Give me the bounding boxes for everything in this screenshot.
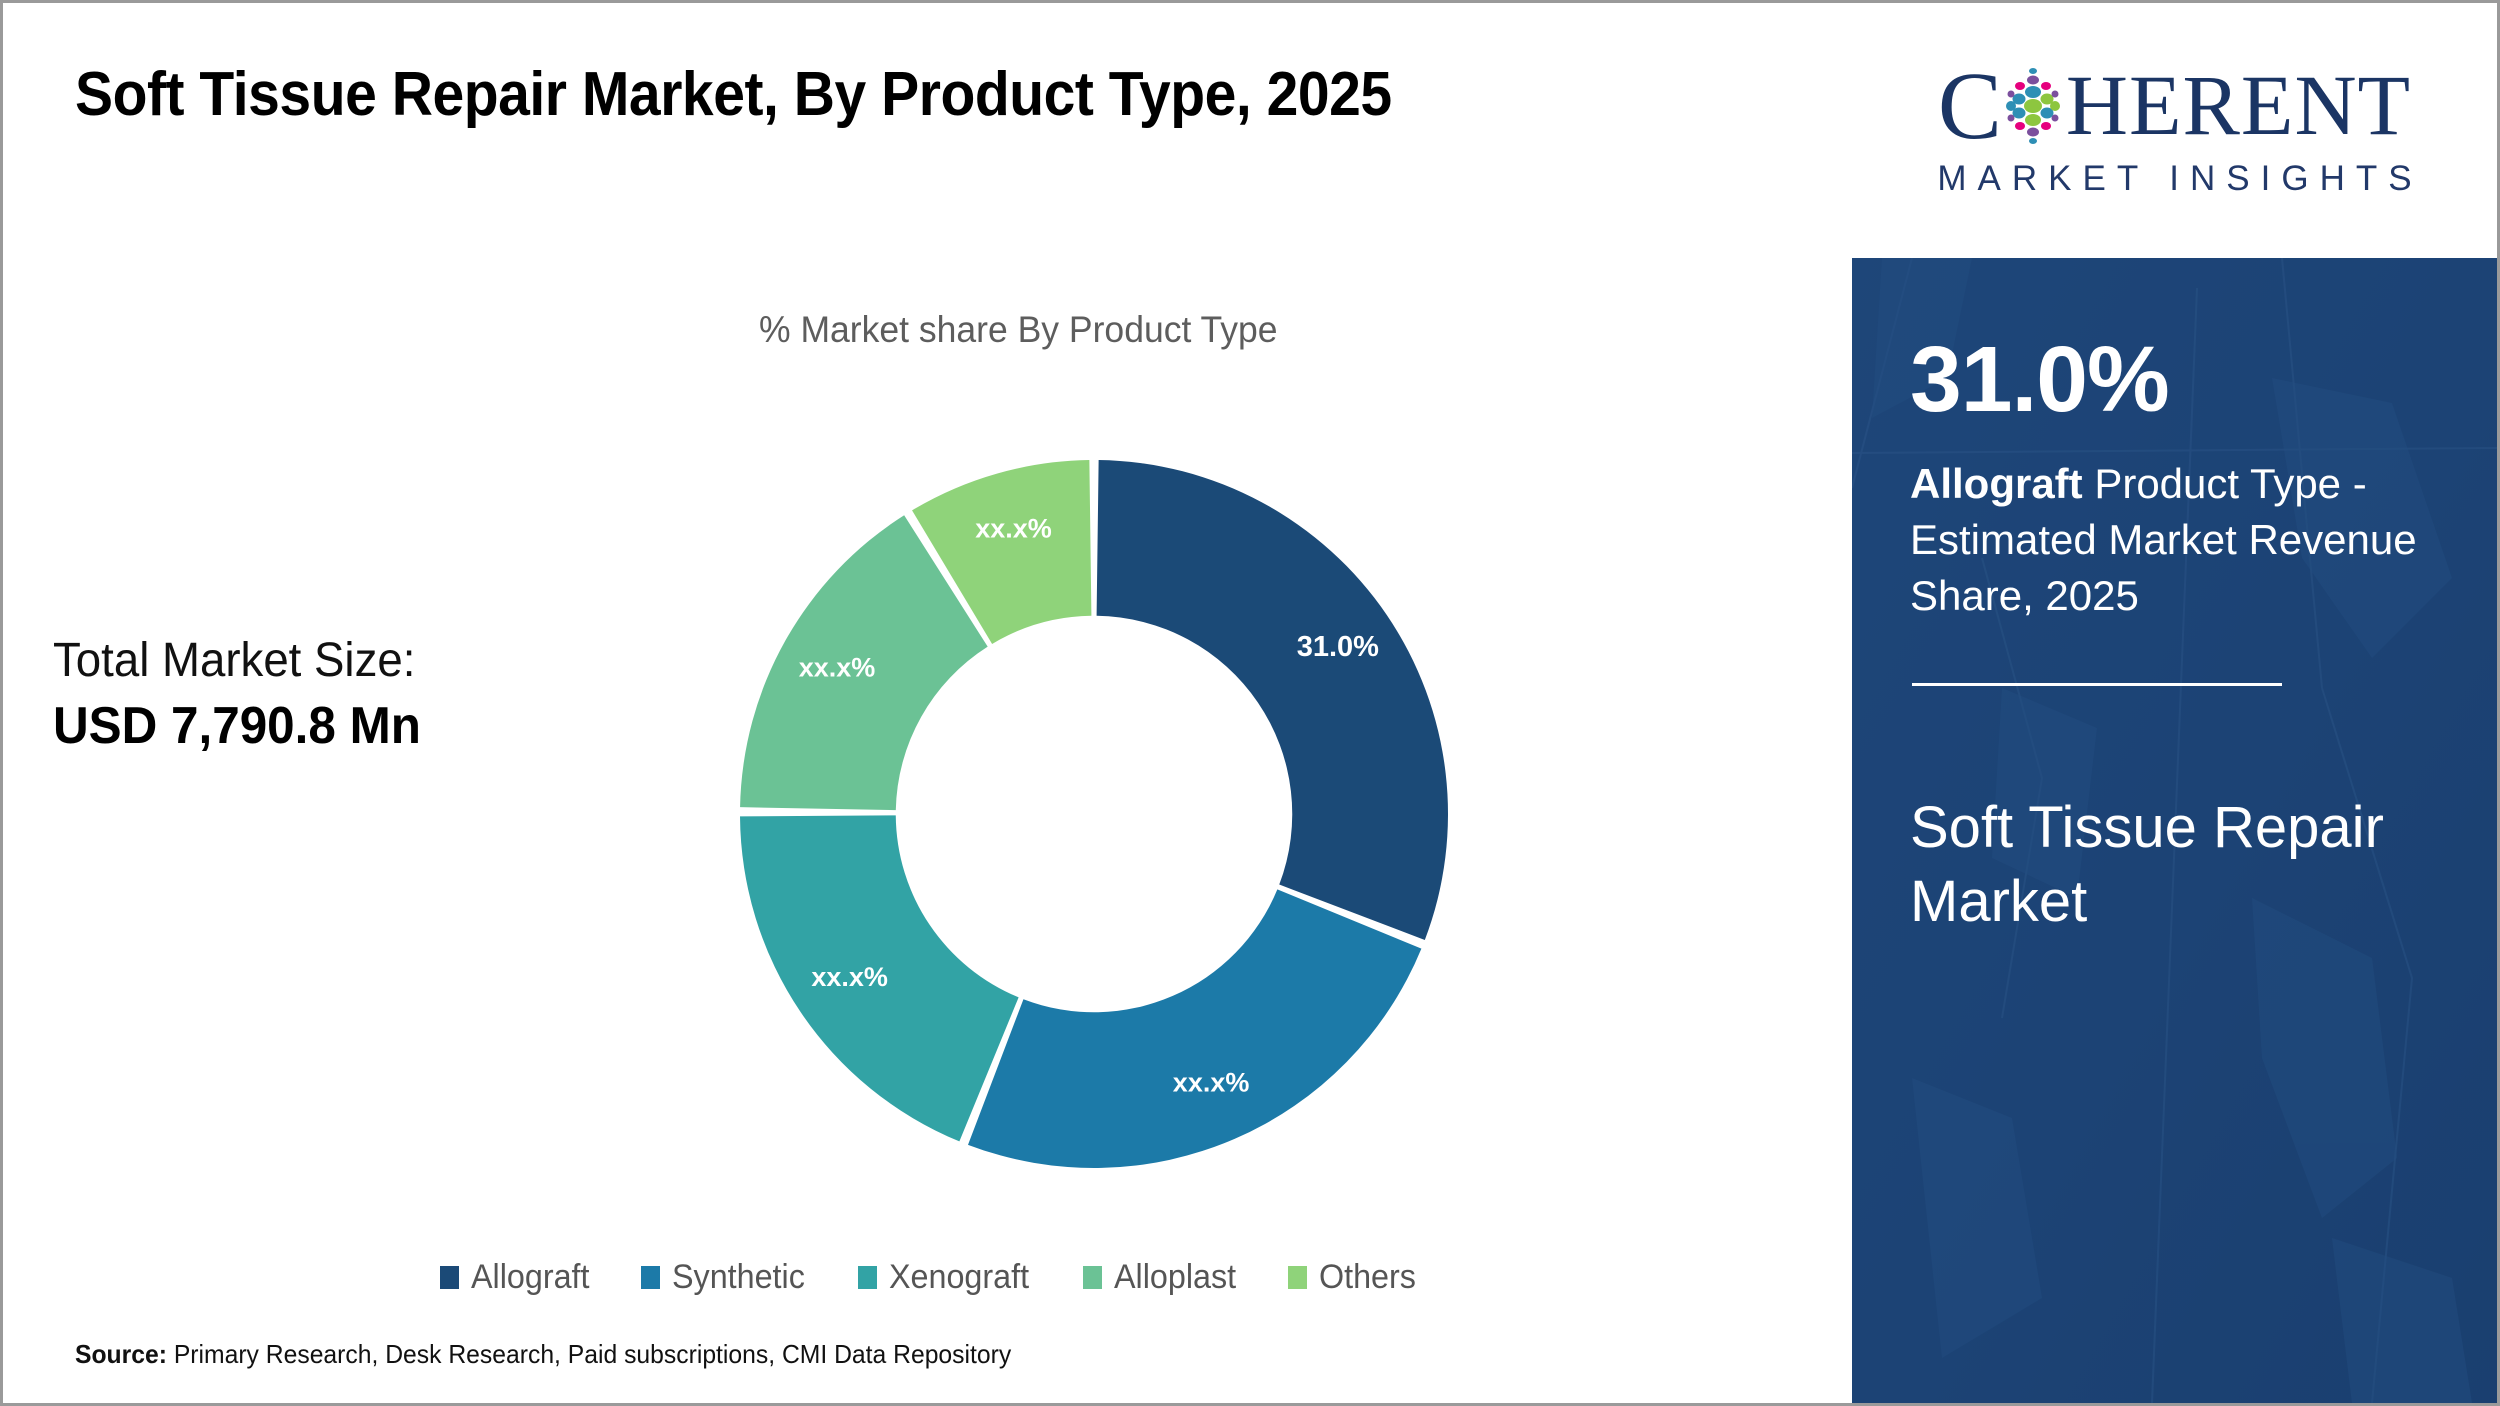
logo-letter-c: C bbox=[1938, 60, 2002, 151]
source-text: Primary Research, Desk Research, Paid su… bbox=[167, 1339, 1011, 1369]
total-market-size-block: Total Market Size: USD 7,790.8 Mn bbox=[53, 633, 673, 757]
donut-slice-label-alloplast: xx.x% bbox=[799, 653, 876, 683]
infographic-root: Soft Tissue Repair Market, By Product Ty… bbox=[0, 0, 2500, 1406]
legend-item-allograft[interactable]: Allograft bbox=[440, 1258, 596, 1297]
page-title: Soft Tissue Repair Market, By Product Ty… bbox=[75, 59, 1392, 130]
legend-item-xenograft[interactable]: Xenograft bbox=[858, 1258, 1036, 1297]
legend-swatch-icon bbox=[1083, 1266, 1102, 1289]
donut-chart: 31.0%xx.x%xx.x%xx.x%xx.x% bbox=[738, 458, 1450, 1170]
total-market-size-label: Total Market Size: bbox=[53, 633, 642, 690]
panel-market-name: Soft Tissue Repair Market bbox=[1910, 791, 2450, 939]
panel-big-stat: 31.0% bbox=[1910, 333, 2169, 426]
logo-tagline: MARKET INSIGHTS bbox=[1926, 159, 2422, 199]
legend-item-alloplast[interactable]: Alloplast bbox=[1083, 1258, 1243, 1297]
legend-swatch-icon bbox=[440, 1266, 459, 1289]
chart-legend: AllograftSyntheticXenograftAlloplastOthe… bbox=[3, 1258, 1858, 1297]
chart-subtitle: % Market share By Product Type bbox=[759, 309, 1278, 351]
panel-content: 31.0% Allograft Product Type - Estimated… bbox=[1852, 258, 2497, 1403]
panel-divider-rule bbox=[1912, 683, 2282, 686]
legend-item-others[interactable]: Others bbox=[1288, 1258, 1421, 1297]
donut-slice-label-others: xx.x% bbox=[975, 514, 1052, 544]
panel-stat-description: Allograft Product Type - Estimated Marke… bbox=[1910, 456, 2440, 624]
brand-logo: C bbox=[1852, 3, 2497, 258]
donut-slice-label-xenograft: xx.x% bbox=[811, 962, 888, 992]
source-line: Source: Primary Research, Desk Research,… bbox=[75, 1339, 1011, 1370]
legend-label: Xenograft bbox=[889, 1258, 1029, 1297]
logo-wordmark: C bbox=[1938, 63, 2411, 149]
right-panel: C bbox=[1852, 3, 2497, 1403]
legend-label: Allograft bbox=[471, 1258, 589, 1297]
logo-word-herent: HERENT bbox=[2066, 65, 2411, 147]
donut-slice-synthetic[interactable] bbox=[968, 889, 1421, 1168]
donut-slice-label-allograft: 31.0% bbox=[1297, 631, 1379, 663]
source-prefix: Source: bbox=[75, 1339, 167, 1369]
legend-swatch-icon bbox=[1288, 1266, 1307, 1289]
highlight-panel: 31.0% Allograft Product Type - Estimated… bbox=[1852, 258, 2497, 1403]
globe-dots-icon bbox=[2002, 67, 2064, 145]
donut-slice-label-synthetic: xx.x% bbox=[1173, 1068, 1250, 1098]
legend-swatch-icon bbox=[641, 1266, 660, 1289]
donut-slice-allograft[interactable] bbox=[1097, 460, 1448, 940]
legend-label: Others bbox=[1319, 1258, 1416, 1297]
legend-swatch-icon bbox=[858, 1266, 877, 1289]
legend-label: Synthetic bbox=[672, 1258, 805, 1297]
legend-item-synthetic[interactable]: Synthetic bbox=[641, 1258, 812, 1297]
legend-label: Alloplast bbox=[1114, 1258, 1236, 1297]
main-content-area: Soft Tissue Repair Market, By Product Ty… bbox=[3, 3, 1858, 1403]
panel-stat-desc-bold: Allograft bbox=[1910, 460, 2083, 507]
total-market-size-value: USD 7,790.8 Mn bbox=[53, 696, 642, 757]
